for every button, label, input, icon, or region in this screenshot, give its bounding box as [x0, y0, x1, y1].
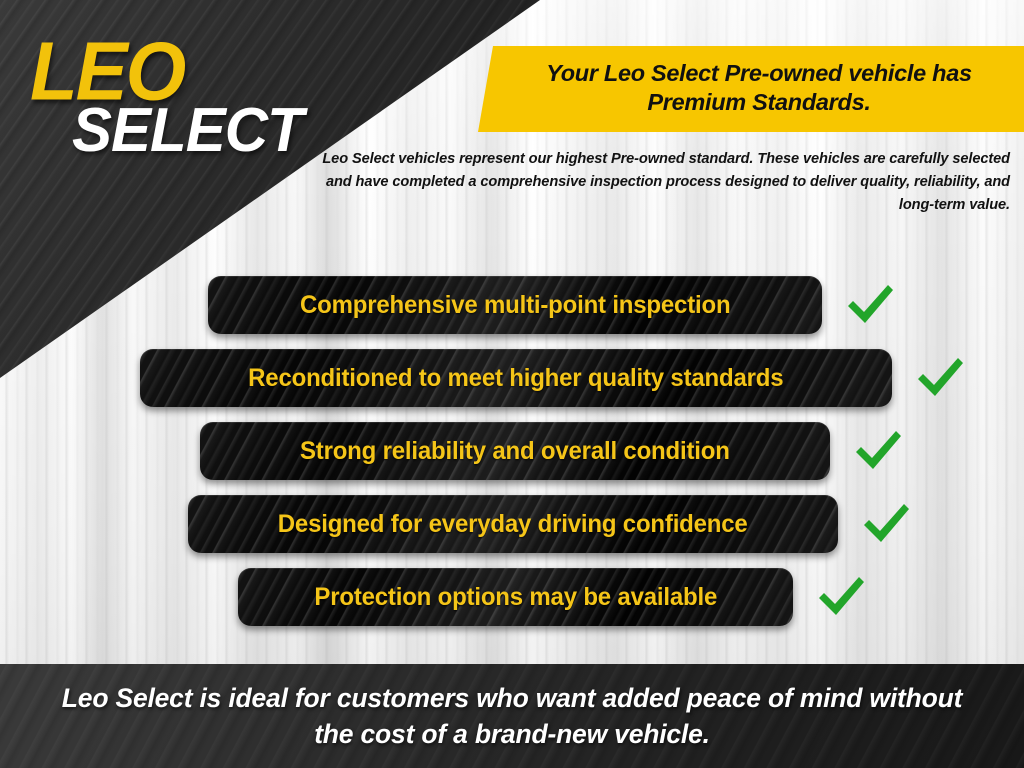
feature-row: Comprehensive multi-point inspection: [208, 276, 896, 334]
feature-label: Reconditioned to meet higher quality sta…: [248, 364, 783, 393]
check-icon: [844, 282, 896, 328]
feature-label: Designed for everyday driving confidence: [278, 510, 748, 539]
feature-label: Strong reliability and overall condition: [300, 437, 730, 466]
feature-pill: Comprehensive multi-point inspection: [208, 276, 822, 334]
feature-row: Protection options may be available: [238, 568, 867, 626]
feature-label: Comprehensive multi-point inspection: [300, 291, 730, 320]
feature-row: Strong reliability and overall condition: [200, 422, 904, 480]
feature-pill: Designed for everyday driving confidence: [188, 495, 838, 553]
feature-row: Designed for everyday driving confidence: [188, 495, 912, 553]
footer-text: Leo Select is ideal for customers who wa…: [0, 680, 1024, 752]
check-icon: [815, 574, 867, 620]
feature-label: Protection options may be available: [314, 583, 717, 612]
logo-text-select: SELECT: [72, 100, 330, 159]
feature-pill: Reconditioned to meet higher quality sta…: [140, 349, 892, 407]
footer-band: Leo Select is ideal for customers who wa…: [0, 664, 1024, 768]
headline-banner: Your Leo Select Pre-owned vehicle has Pr…: [470, 46, 1024, 132]
leo-select-logo: LEO SELECT: [30, 34, 330, 157]
feature-pill: Strong reliability and overall condition: [200, 422, 830, 480]
intro-paragraph: Leo Select vehicles represent our highes…: [300, 148, 1010, 217]
feature-row: Reconditioned to meet higher quality sta…: [140, 349, 966, 407]
check-icon: [852, 428, 904, 474]
check-icon: [860, 501, 912, 547]
check-icon: [914, 355, 966, 401]
poster-canvas: LEO SELECT Your Leo Select Pre-owned veh…: [0, 0, 1024, 768]
headline-text: Your Leo Select Pre-owned vehicle has Pr…: [504, 59, 1014, 116]
feature-pill: Protection options may be available: [238, 568, 793, 626]
